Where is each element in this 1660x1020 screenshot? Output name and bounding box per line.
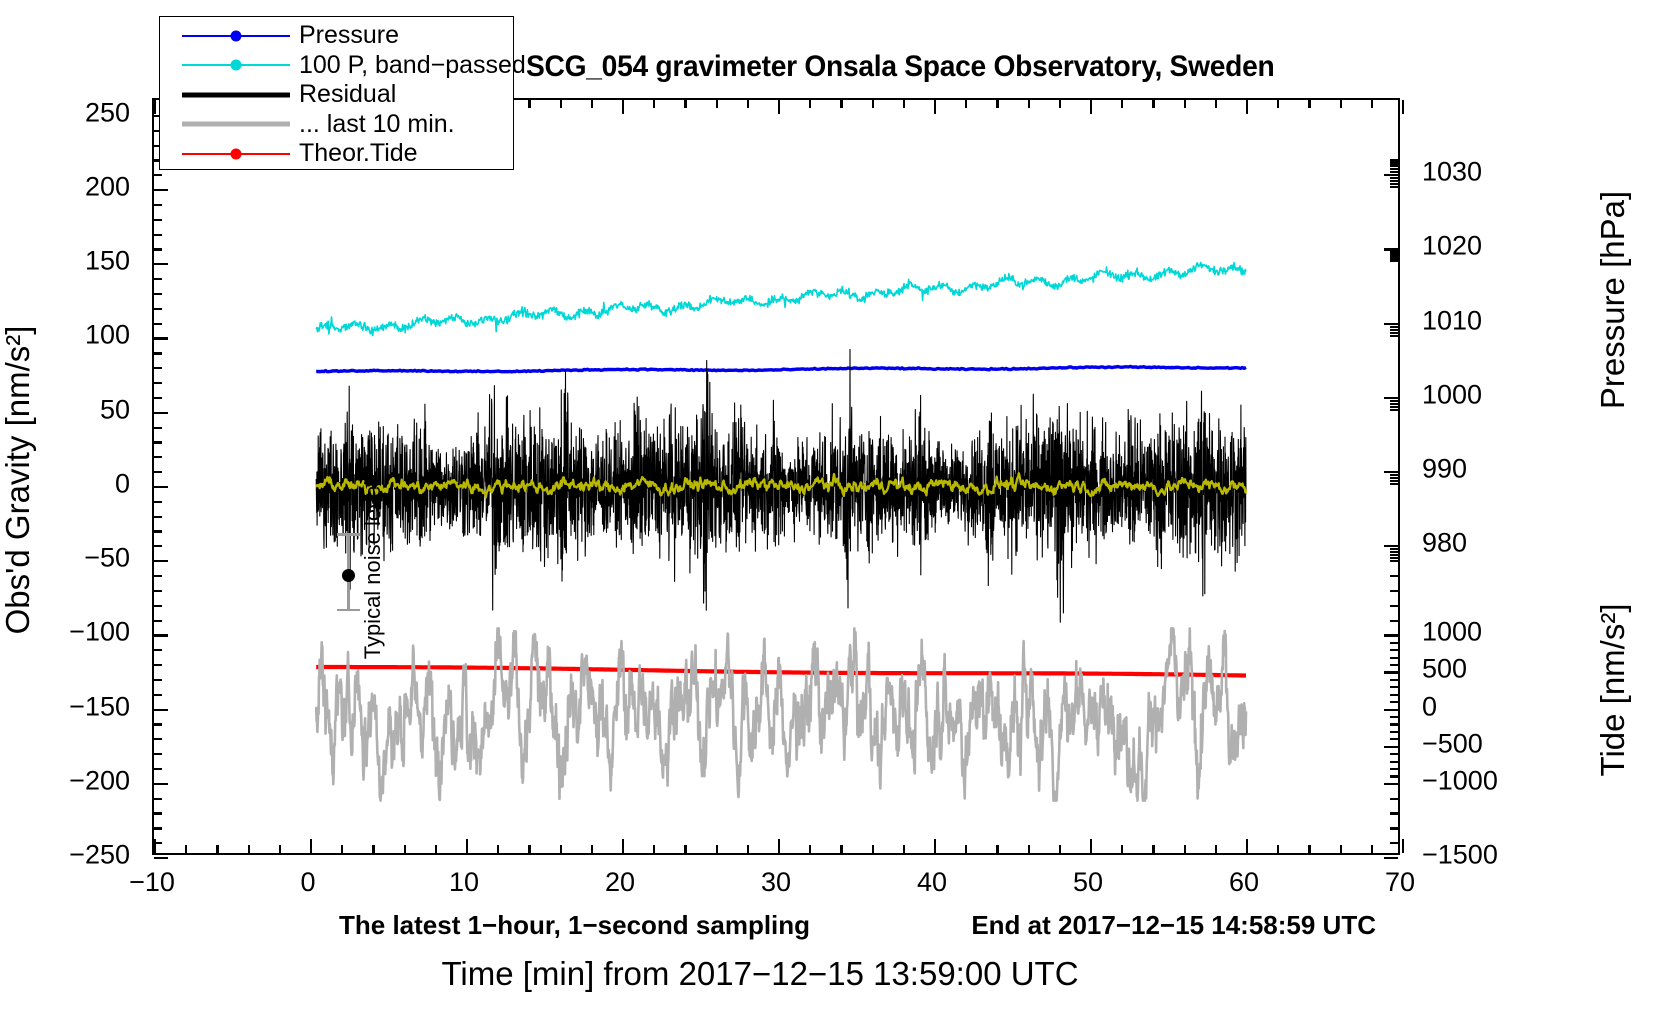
x-tick-label: 50 — [1073, 869, 1103, 896]
pressure-tick-label: 980 — [1422, 530, 1467, 557]
tick-mark — [684, 845, 686, 853]
tick-mark — [1390, 761, 1398, 763]
tick-mark — [1390, 403, 1398, 405]
tick-mark — [809, 845, 811, 853]
plot-axes-frame: Typical noise level The latest 1−hour, 1… — [152, 98, 1400, 855]
tick-mark — [154, 827, 162, 829]
tick-mark — [154, 367, 162, 369]
tick-mark — [1390, 180, 1398, 182]
tick-mark — [1390, 409, 1398, 411]
tick-mark — [996, 100, 998, 108]
legend-item-1: 100 P, band−passed — [160, 51, 513, 81]
tick-mark — [154, 798, 162, 800]
tick-mark — [1246, 100, 1248, 114]
y-tick-label: −100 — [20, 619, 130, 646]
legend-swatch-icon — [182, 56, 290, 74]
tick-mark — [1390, 329, 1398, 331]
tick-mark — [1384, 174, 1398, 176]
tick-mark — [1390, 827, 1398, 829]
tick-mark — [185, 845, 187, 853]
pressure-tick-label: 1020 — [1422, 233, 1482, 260]
tick-mark — [1390, 642, 1398, 644]
tick-mark — [1390, 162, 1398, 164]
tick-mark — [497, 845, 499, 853]
tick-mark — [154, 456, 162, 458]
tick-mark — [404, 845, 406, 853]
series-canvas — [154, 100, 1402, 857]
tick-mark — [1059, 845, 1061, 853]
tick-mark — [154, 263, 168, 265]
tick-mark — [154, 397, 162, 399]
tick-mark — [1390, 480, 1398, 482]
page-title: SCG_054 gravimeter Onsala Space Observat… — [526, 50, 1274, 84]
tick-mark — [154, 530, 162, 532]
tick-mark — [154, 857, 168, 859]
tide-tick-label: 0 — [1422, 693, 1437, 720]
legend-item-4: Theor.Tide — [160, 139, 513, 169]
x-tick-label: 40 — [917, 869, 947, 896]
tick-mark — [872, 100, 874, 108]
sampling-annotation: The latest 1−hour, 1−second sampling — [339, 910, 810, 941]
legend-item-0: Pressure — [160, 21, 513, 51]
tick-mark — [560, 100, 562, 108]
tick-mark — [528, 845, 530, 853]
tick-mark — [466, 839, 468, 853]
tick-mark — [809, 100, 811, 108]
y-tick-label: −200 — [20, 767, 130, 794]
tick-mark — [1390, 177, 1398, 179]
tick-mark — [1384, 783, 1398, 785]
legend-item-3: ... last 10 min. — [160, 110, 513, 140]
tick-mark — [154, 545, 162, 547]
tick-mark — [747, 100, 749, 108]
legend-item-label: Pressure — [290, 23, 399, 48]
tick-mark — [1390, 406, 1398, 408]
tick-mark — [154, 352, 162, 354]
noise-level-label: Typical noise level — [360, 481, 386, 660]
tick-mark — [1390, 551, 1398, 553]
tick-mark — [154, 501, 162, 503]
pressure-tick-label: 1030 — [1422, 159, 1482, 186]
tick-mark — [1390, 183, 1398, 185]
tick-mark — [154, 839, 156, 853]
tick-mark — [622, 839, 624, 853]
tick-mark — [154, 605, 162, 607]
tick-mark — [435, 845, 437, 853]
tick-mark — [1390, 686, 1398, 688]
tick-mark — [1390, 657, 1398, 659]
tick-mark — [1390, 332, 1398, 334]
tick-mark — [154, 649, 162, 651]
tick-mark — [1390, 557, 1398, 559]
tick-mark — [653, 845, 655, 853]
tick-mark — [1340, 845, 1342, 853]
tick-mark — [872, 845, 874, 853]
tick-mark — [840, 845, 842, 853]
tick-mark — [1390, 171, 1398, 173]
tick-mark — [903, 100, 905, 108]
tick-mark — [154, 382, 162, 384]
pressure-tick-label: 1010 — [1422, 307, 1482, 334]
tick-mark — [1390, 738, 1398, 740]
pressure-tick-label: 990 — [1422, 456, 1467, 483]
tick-mark — [1402, 100, 1404, 114]
tick-mark — [1384, 671, 1398, 673]
y-tick-label: 100 — [20, 322, 130, 349]
tick-mark — [154, 248, 162, 250]
x-tick-label: 10 — [449, 869, 479, 896]
tick-mark — [154, 204, 162, 206]
y-tick-label: −250 — [20, 842, 130, 869]
tick-mark — [1152, 845, 1154, 853]
tick-mark — [591, 100, 593, 108]
tick-mark — [840, 100, 842, 108]
tick-mark — [372, 845, 374, 853]
tick-mark — [1384, 248, 1398, 250]
tick-mark — [1371, 845, 1373, 853]
tick-mark — [154, 441, 162, 443]
tick-mark — [154, 575, 162, 577]
tick-mark — [1384, 634, 1398, 636]
legend: Pressure100 P, band−passedResidual... la… — [159, 16, 514, 170]
tick-mark — [1384, 746, 1398, 748]
tick-mark — [154, 174, 162, 176]
tick-mark — [778, 100, 780, 114]
tick-mark — [154, 812, 162, 814]
tick-mark — [1390, 753, 1398, 755]
x-tick-label: 70 — [1385, 869, 1415, 896]
tick-mark — [154, 100, 156, 114]
tick-mark — [1390, 254, 1398, 256]
tick-mark — [1246, 839, 1248, 853]
tick-mark — [248, 845, 250, 853]
tick-mark — [1390, 694, 1398, 696]
tick-mark — [1090, 839, 1092, 853]
tick-mark — [154, 189, 168, 191]
tick-mark — [1390, 251, 1398, 253]
tick-mark — [310, 839, 312, 853]
tick-mark — [1390, 560, 1398, 562]
tick-mark — [1152, 100, 1154, 108]
tick-mark — [1390, 701, 1398, 703]
tick-mark — [684, 100, 686, 108]
series-band-passed-pressure — [316, 263, 1246, 336]
tick-mark — [1390, 679, 1398, 681]
tick-mark — [154, 679, 162, 681]
tick-mark — [1390, 649, 1398, 651]
tick-mark — [996, 845, 998, 853]
legend-swatch-icon — [182, 27, 290, 45]
tick-mark — [1340, 100, 1342, 108]
legend-item-label: ... last 10 min. — [290, 112, 455, 137]
tick-mark — [1390, 620, 1398, 622]
legend-item-label: Residual — [290, 82, 396, 107]
tick-mark — [653, 100, 655, 108]
tick-mark — [154, 620, 162, 622]
tick-mark — [903, 845, 905, 853]
tick-mark — [154, 234, 162, 236]
pressure-tick-label: 1000 — [1422, 381, 1482, 408]
series-last-10-min — [316, 628, 1246, 800]
tick-mark — [1384, 545, 1398, 547]
tick-mark — [1121, 100, 1123, 108]
tick-mark — [716, 100, 718, 108]
tick-mark — [1390, 716, 1398, 718]
x-tick-label: 20 — [605, 869, 635, 896]
tick-mark — [1215, 845, 1217, 853]
tick-mark — [1390, 159, 1398, 161]
legend-swatch-icon — [182, 145, 290, 163]
tick-mark — [154, 590, 162, 592]
tick-mark — [1390, 731, 1398, 733]
tick-mark — [154, 471, 162, 473]
tick-mark — [154, 664, 162, 666]
tick-mark — [1277, 845, 1279, 853]
legend-swatch-icon — [182, 115, 290, 133]
y-axis-label-tide: Tide [nm/s²] — [1594, 604, 1632, 777]
tick-mark — [279, 845, 281, 853]
tick-mark — [1390, 260, 1398, 262]
tick-mark — [560, 845, 562, 853]
tick-mark — [154, 753, 162, 755]
tick-mark — [154, 560, 168, 562]
tick-mark — [154, 634, 168, 636]
tick-mark — [1384, 471, 1398, 473]
legend-item-label: 100 P, band−passed — [290, 53, 526, 78]
tick-mark — [1390, 775, 1398, 777]
tick-mark — [1384, 709, 1398, 711]
tick-mark — [154, 278, 162, 280]
legend-swatch-icon — [182, 86, 290, 104]
tick-mark — [1390, 554, 1398, 556]
tick-mark — [1028, 100, 1030, 108]
tick-mark — [1390, 477, 1398, 479]
tick-mark — [154, 427, 162, 429]
tick-mark — [622, 100, 624, 114]
gravimeter-plot: SCG_054 gravimeter Onsala Space Observat… — [0, 0, 1660, 1020]
tick-mark — [1390, 842, 1398, 844]
tick-mark — [1384, 857, 1398, 859]
x-axis-label: Time [min] from 2017−12−15 13:59:00 UTC — [441, 955, 1078, 993]
tick-mark — [1402, 839, 1404, 853]
tick-mark — [154, 694, 162, 696]
tick-mark — [1390, 768, 1398, 770]
tick-mark — [1390, 548, 1398, 550]
tick-mark — [154, 293, 162, 295]
noise-center-dot — [342, 569, 355, 582]
tick-mark — [1184, 845, 1186, 853]
noise-bar-bottom-cap — [337, 609, 360, 612]
end-time-annotation: End at 2017−12−15 14:58:59 UTC — [971, 910, 1376, 941]
legend-item-2: Residual — [160, 80, 513, 110]
tick-mark — [1390, 474, 1398, 476]
tick-mark — [1390, 483, 1398, 485]
tick-mark — [154, 723, 162, 725]
tick-mark — [154, 486, 168, 488]
y-tick-label: −50 — [20, 545, 130, 572]
tick-mark — [1390, 326, 1398, 328]
y-tick-label: 200 — [20, 174, 130, 201]
tick-mark — [216, 845, 218, 853]
tide-tick-label: 1000 — [1422, 619, 1482, 646]
tick-mark — [1390, 168, 1398, 170]
tick-mark — [1059, 100, 1061, 108]
tick-mark — [1121, 845, 1123, 853]
tick-mark — [1090, 100, 1092, 114]
tick-mark — [934, 839, 936, 853]
tick-mark — [1390, 812, 1398, 814]
tick-mark — [1215, 100, 1217, 108]
tick-mark — [591, 845, 593, 853]
tick-mark — [341, 845, 343, 853]
y-tick-label: −150 — [20, 693, 130, 720]
tick-mark — [1184, 100, 1186, 108]
tick-mark — [528, 100, 530, 108]
tick-mark — [1384, 323, 1398, 325]
tick-mark — [1390, 590, 1398, 592]
series-pressure — [316, 366, 1246, 371]
tick-mark — [934, 100, 936, 114]
y-tick-label: 50 — [20, 396, 130, 423]
tick-mark — [154, 308, 162, 310]
tick-mark — [1371, 100, 1373, 108]
tick-mark — [778, 839, 780, 853]
tick-mark — [154, 323, 162, 325]
tick-mark — [1028, 845, 1030, 853]
tick-mark — [1390, 575, 1398, 577]
y-axis-label-pressure: Pressure [hPa] — [1594, 191, 1632, 409]
tick-mark — [154, 768, 162, 770]
x-tick-label: 30 — [761, 869, 791, 896]
tick-mark — [1390, 400, 1398, 402]
tick-mark — [1390, 605, 1398, 607]
x-tick-label: 0 — [300, 869, 315, 896]
x-tick-label: 60 — [1229, 869, 1259, 896]
tick-mark — [154, 337, 168, 339]
tick-mark — [747, 845, 749, 853]
tick-mark — [1390, 257, 1398, 259]
tick-mark — [1277, 100, 1279, 108]
x-tick-label: −10 — [129, 869, 175, 896]
tick-mark — [1384, 397, 1398, 399]
legend-item-label: Theor.Tide — [290, 141, 418, 166]
tide-tick-label: −500 — [1422, 730, 1483, 757]
tick-mark — [1390, 335, 1398, 337]
y-tick-label: 150 — [20, 248, 130, 275]
tick-mark — [1390, 165, 1398, 167]
tick-mark — [1390, 723, 1398, 725]
tide-tick-label: −1000 — [1422, 767, 1498, 794]
tick-mark — [716, 845, 718, 853]
tick-mark — [1390, 664, 1398, 666]
tick-mark — [154, 412, 168, 414]
tick-mark — [965, 845, 967, 853]
tick-mark — [1308, 100, 1310, 108]
tick-mark — [154, 219, 162, 221]
tick-mark — [1308, 845, 1310, 853]
tick-mark — [965, 100, 967, 108]
tick-mark — [154, 783, 168, 785]
tick-mark — [1390, 798, 1398, 800]
tick-mark — [154, 516, 162, 518]
tick-mark — [1390, 186, 1398, 188]
tick-mark — [154, 738, 162, 740]
y-tick-label: 250 — [20, 99, 130, 126]
tide-tick-label: −1500 — [1422, 842, 1498, 869]
y-tick-label: 0 — [20, 470, 130, 497]
tide-tick-label: 500 — [1422, 656, 1467, 683]
tick-mark — [154, 709, 168, 711]
